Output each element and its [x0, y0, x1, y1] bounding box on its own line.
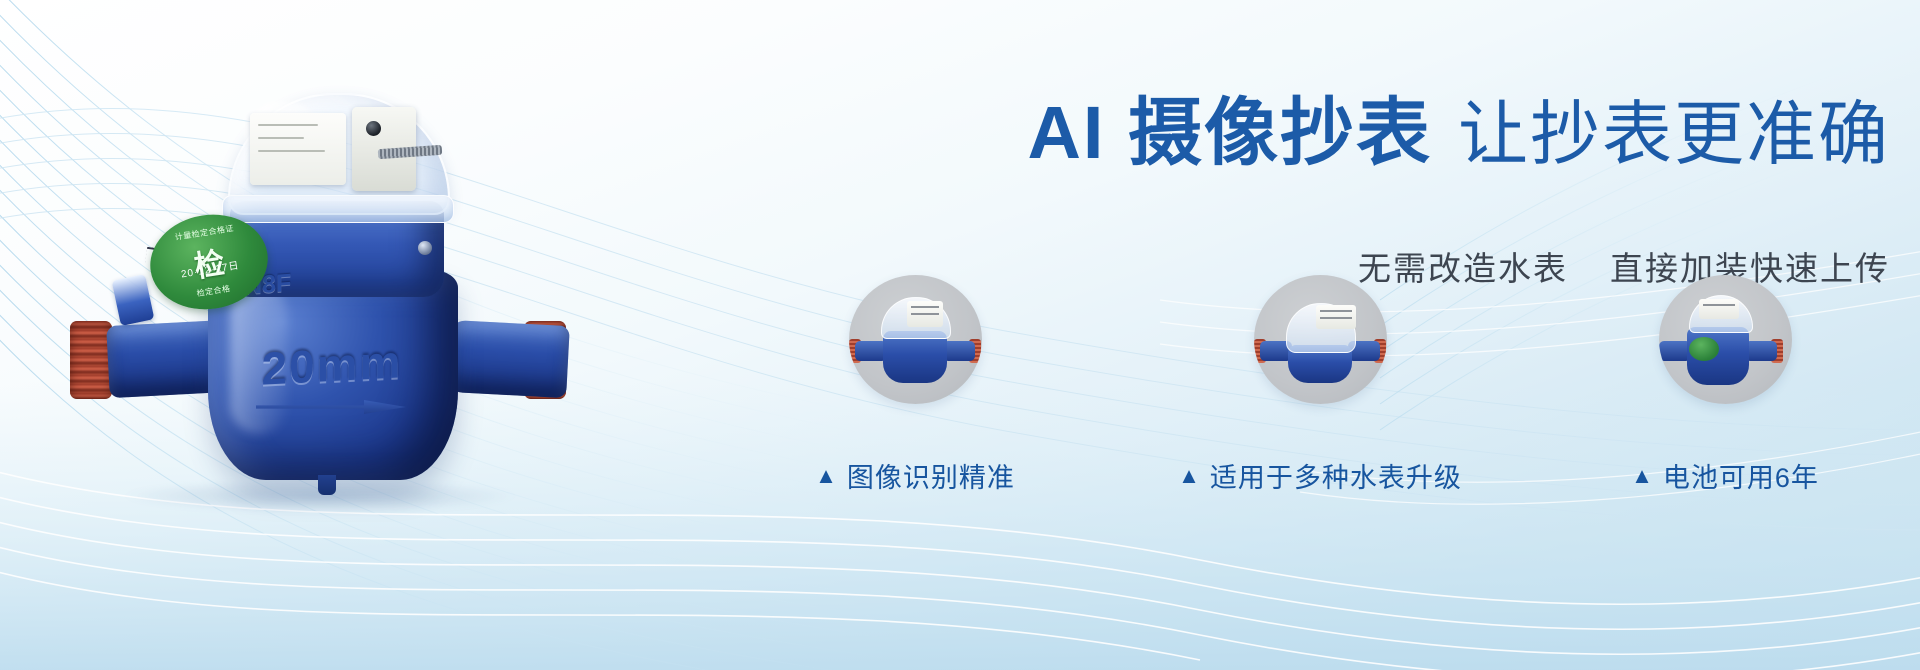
feature-caption: ▲ 适用于多种水表升级 [1178, 456, 1462, 495]
mini-pipe-left [855, 341, 887, 361]
hero-product-image: 20mm N8F 计量检定合格证 20·12·17日 检 检定合格 [60, 55, 580, 525]
feature-label: 图像识别精准 [847, 456, 1015, 495]
mini-pipe-right [943, 341, 975, 361]
meter-dial-label [250, 113, 346, 185]
banner-copy: AI 摄像抄表让抄表更准确 无需改造水表直接加装快速上传 [560, 0, 1920, 670]
feature-item[interactable]: ▲ 电池可用6年 [1560, 275, 1890, 495]
water-meter-thumb-camera[interactable] [849, 275, 982, 404]
headline-secondary: 让抄表更准确 [1458, 95, 1890, 173]
headline-primary: AI 摄像抄表 [1027, 91, 1432, 174]
feature-item[interactable]: ▲ 图像识别精准 [750, 275, 1080, 495]
camera-lens-icon [366, 121, 381, 136]
dial-label-line [258, 150, 325, 152]
mini-dial-line [911, 306, 939, 308]
mini-dial-line [1320, 310, 1352, 312]
dial-label-line [258, 137, 304, 139]
mini-dial-line [1320, 317, 1352, 319]
feature-item[interactable]: ▲ 适用于多种水表升级 [1155, 275, 1485, 495]
feature-label: 电池可用6年 [1663, 456, 1819, 495]
triangle-marker-icon: ▲ [1178, 465, 1201, 487]
pipe-thread-left-icon [70, 321, 112, 399]
pipe-right [446, 320, 570, 398]
mini-pipe-left [1659, 341, 1691, 361]
mini-dial-label [907, 301, 943, 327]
mini-inspection-seal-icon [1689, 337, 1719, 361]
feature-caption: ▲ 图像识别精准 [815, 456, 1015, 495]
dial-label-line [258, 124, 318, 126]
mini-dial-label [1699, 299, 1739, 319]
promo-banner: 20mm N8F 计量检定合格证 20·12·17日 检 检定合格 AI 摄像抄… [0, 0, 1920, 670]
triangle-marker-icon: ▲ [1631, 465, 1654, 487]
headline: AI 摄像抄表让抄表更准确 [560, 96, 1890, 170]
feature-caption: ▲ 电池可用6年 [1631, 456, 1819, 495]
triangle-marker-icon: ▲ [815, 465, 838, 487]
meter-size-marking: 20mm [232, 332, 432, 398]
mini-pipe-right [1745, 341, 1777, 361]
feature-label: 适用于多种水表升级 [1210, 456, 1462, 495]
mini-dial-label [1316, 305, 1356, 329]
mini-dial-line [1703, 304, 1735, 306]
feature-thumbnail-row: ▲ 图像识别精准 [750, 275, 1890, 495]
collar-screw-icon [418, 241, 432, 255]
mini-dial-line [911, 313, 939, 315]
water-meter-thumb-blue[interactable] [1659, 275, 1792, 404]
water-meter-thumb-transparent[interactable] [1254, 275, 1387, 404]
meter-drain-plug [318, 475, 336, 495]
